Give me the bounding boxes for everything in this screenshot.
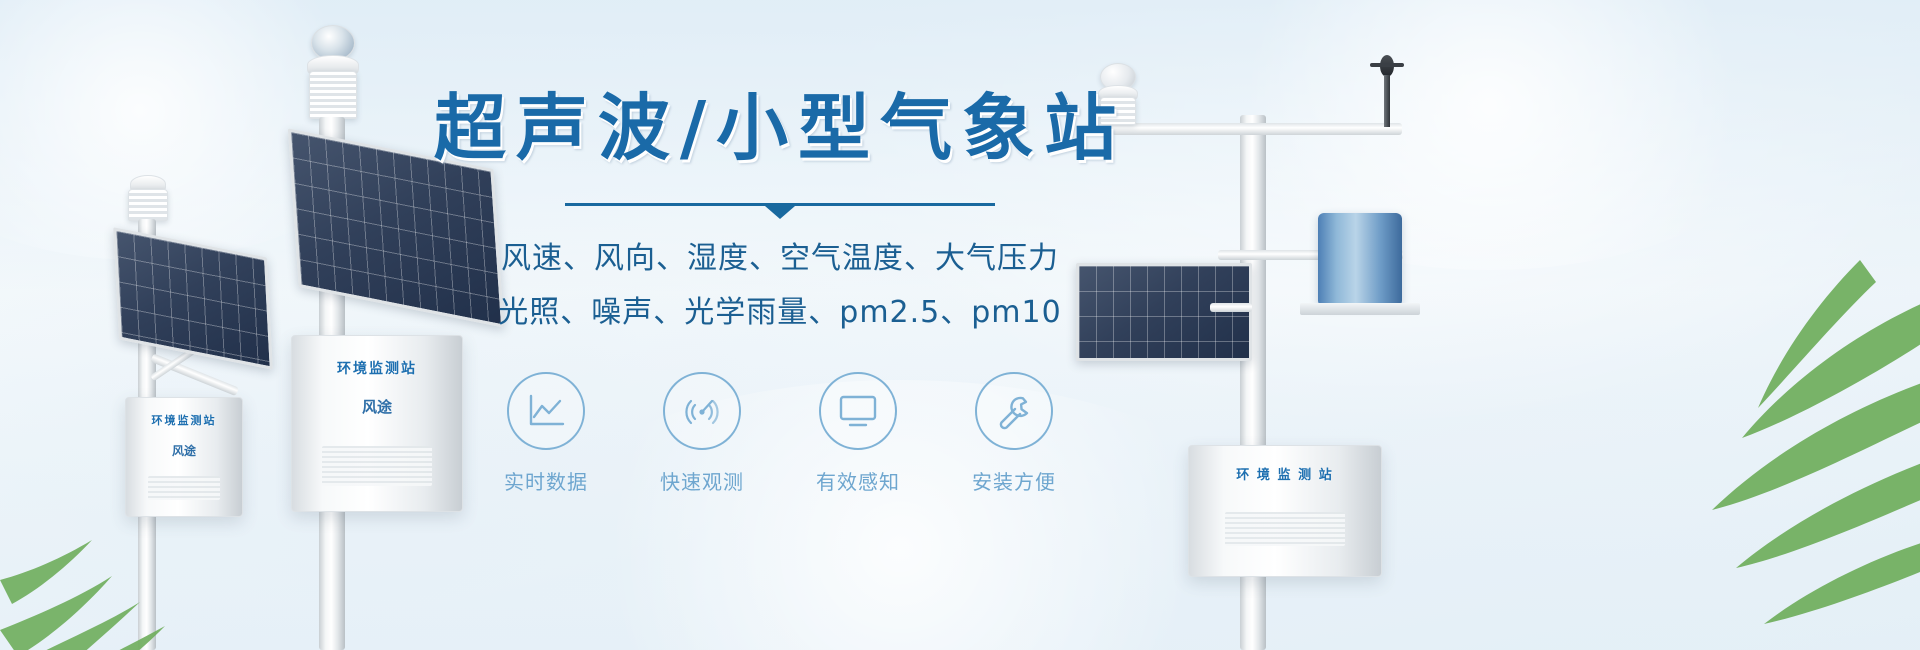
feature-label: 实时数据 — [491, 466, 601, 495]
feature-item-easy-install[interactable]: 安装方便 — [959, 372, 1069, 495]
wrench-icon — [994, 391, 1034, 431]
cabinet-vent — [1225, 512, 1345, 546]
cabinet-label: 环境监测站 — [126, 412, 242, 428]
cross-arm — [1112, 123, 1402, 135]
feature-item-fast-observation[interactable]: 快速观测 — [647, 372, 757, 495]
cabinet-brand: 风途 — [126, 442, 242, 459]
left-small-weather-station: 环境监测站 风途 — [100, 175, 300, 650]
cabinet-label: 环 境 监 测 站 — [1189, 464, 1381, 483]
monitor-icon — [837, 393, 879, 429]
feature-label: 有效感知 — [803, 466, 913, 495]
radiation-shield-icon — [128, 189, 168, 221]
feature-icon-circle — [663, 372, 741, 450]
equipment-cabinet: 环 境 监 测 站 — [1188, 445, 1382, 577]
cabinet-vent — [148, 476, 220, 500]
equipment-cabinet: 环境监测站 风途 — [125, 397, 243, 517]
feature-item-effective-sensing[interactable]: 有效感知 — [803, 372, 913, 495]
rain-gauge — [1318, 213, 1402, 305]
anemometer-icon — [1368, 55, 1404, 125]
feature-label: 安装方便 — [959, 466, 1069, 495]
feature-label: 快速观测 — [647, 466, 757, 495]
line-chart-icon — [526, 392, 566, 430]
cabinet-vent — [322, 446, 432, 486]
feature-icon-circle — [507, 372, 585, 450]
product-banner: 环境监测站 风途 环境监测站 风途 — [0, 0, 1920, 650]
feature-item-realtime-data[interactable]: 实时数据 — [491, 372, 601, 495]
banner-content: 超声波/小型气象站 风速、风向、湿度、空气温度、大气压力 光照、噪声、光学雨量、… — [430, 92, 1130, 562]
leaf-decoration-right — [1390, 260, 1920, 650]
feature-icon-circle — [819, 372, 897, 450]
panel-mount-arm — [1210, 303, 1252, 312]
radiation-shield-icon — [309, 71, 357, 119]
radar-scan-icon — [682, 391, 722, 431]
page-title: 超声波/小型气象站 — [430, 92, 1130, 164]
instrument-shelf — [1300, 303, 1420, 315]
subtitle-line-1: 风速、风向、湿度、空气温度、大气压力 — [430, 234, 1130, 284]
subtitle-line-2: 光照、噪声、光学雨量、pm2.5、pm10 — [430, 288, 1130, 338]
feature-list: 实时数据 快速观测 — [430, 372, 1130, 495]
chevron-down-icon — [765, 206, 795, 219]
divider — [565, 198, 995, 216]
feature-icon-circle — [975, 372, 1053, 450]
